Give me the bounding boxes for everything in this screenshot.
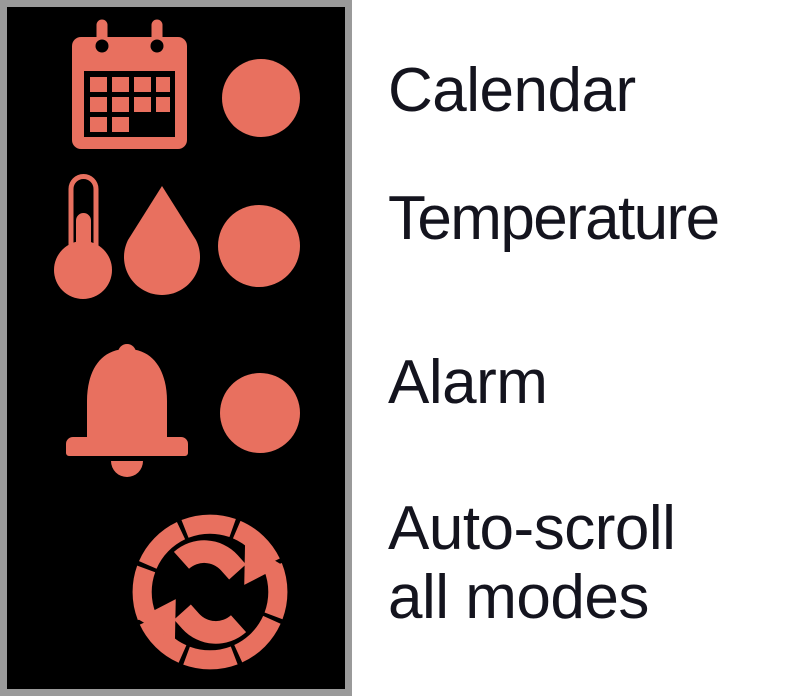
- label-temperature: Temperature: [388, 184, 718, 253]
- thermometer-icon: [45, 167, 121, 303]
- legend-figure: Calendar Temperature Alarm Auto-scroll a…: [0, 0, 786, 696]
- filled-circle-indicator: [218, 371, 302, 455]
- label-calendar: Calendar: [388, 56, 636, 125]
- label-alarm: Alarm: [388, 348, 547, 417]
- auto-scroll-refresh-icon: [123, 505, 297, 679]
- calendar-icon: [62, 19, 197, 154]
- water-drop-icon: [120, 182, 204, 297]
- label-auto-scroll: Auto-scroll all modes: [388, 494, 675, 633]
- mode-icon-panel: [0, 0, 352, 696]
- filled-circle-indicator: [220, 57, 302, 139]
- mode-label-column: Calendar Temperature Alarm Auto-scroll a…: [352, 0, 786, 696]
- filled-circle-indicator: [216, 203, 302, 289]
- bell-icon: [65, 341, 189, 481]
